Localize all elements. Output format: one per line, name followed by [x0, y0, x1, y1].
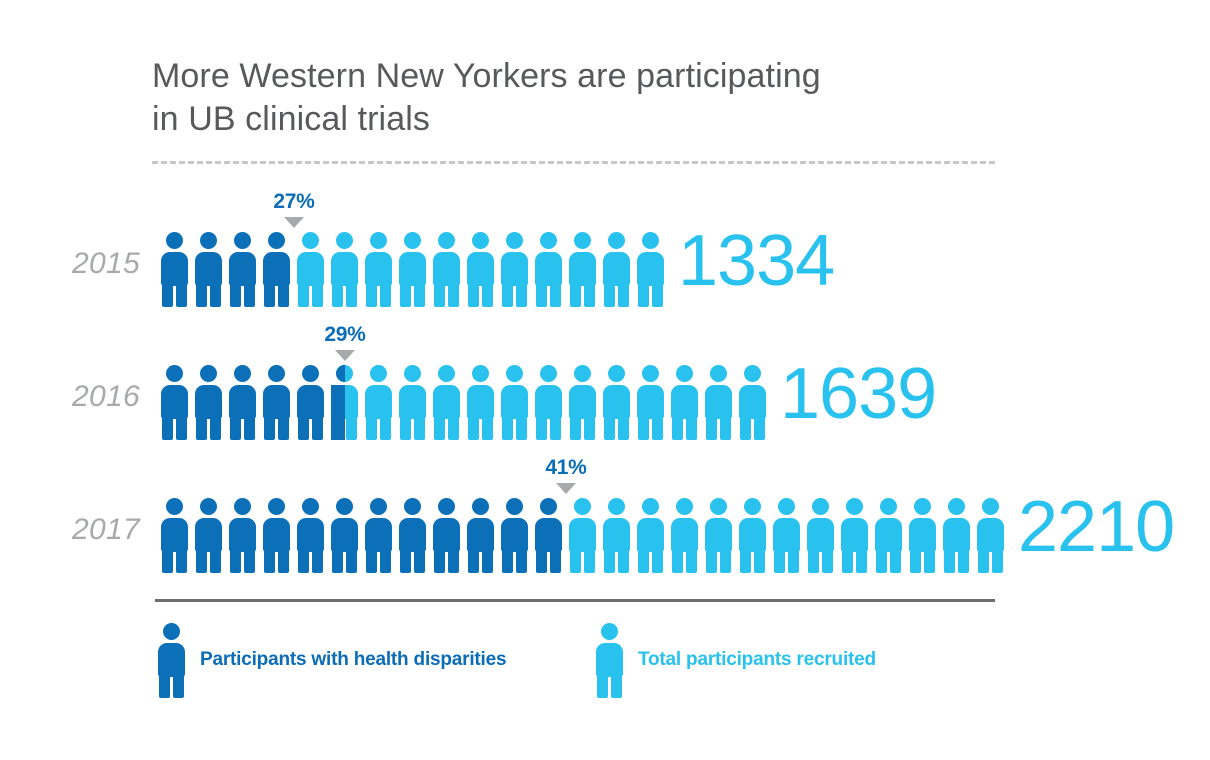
- person-icon: [158, 498, 192, 573]
- person-body-icon: [535, 385, 562, 440]
- title-divider-dashed: [152, 161, 995, 164]
- person-head-icon: [710, 365, 727, 382]
- triangle-down-icon: [335, 350, 355, 361]
- person-body-icon: [739, 385, 766, 440]
- person-icon: [430, 232, 464, 307]
- person-body-icon: [943, 518, 970, 573]
- person-icon: [464, 232, 498, 307]
- person-head-icon: [370, 232, 387, 249]
- person-head-icon: [234, 232, 251, 249]
- person-head-icon: [540, 232, 557, 249]
- person-head-icon: [438, 498, 455, 515]
- person-head-icon: [744, 498, 761, 515]
- person-icon: [906, 498, 940, 573]
- person-head-icon: [574, 232, 591, 249]
- total-value-2015: 1334: [678, 225, 834, 297]
- person-icon: [362, 232, 396, 307]
- person-head-icon: [438, 232, 455, 249]
- pictogram-row-2017: 201741%2210: [0, 456, 1210, 576]
- legend-label: Participants with health disparities: [200, 649, 506, 671]
- person-body-icon: [807, 518, 834, 573]
- figure-strip-2015: [158, 232, 668, 307]
- person-head-icon: [268, 365, 285, 382]
- person-body-icon: [603, 252, 630, 307]
- person-icon: [158, 365, 192, 440]
- year-label-2015: 2015: [0, 247, 140, 281]
- person-icon: [702, 365, 736, 440]
- person-body-icon: [637, 385, 664, 440]
- person-icon: [804, 498, 838, 573]
- person-icon: [634, 365, 668, 440]
- person-icon: [668, 498, 702, 573]
- person-body-icon: [569, 385, 596, 440]
- person-body-icon: [365, 252, 392, 307]
- person-icon: [294, 498, 328, 573]
- person-body-icon: [501, 385, 528, 440]
- person-head-icon: [336, 365, 353, 382]
- person-icon: [702, 498, 736, 573]
- page-title: More Western New Yorkers are participati…: [152, 55, 1022, 141]
- person-head-icon: [676, 498, 693, 515]
- person-body-icon: [297, 518, 324, 573]
- person-body-icon: [263, 252, 290, 307]
- person-head-icon: [574, 365, 591, 382]
- person-body-icon: [297, 385, 324, 440]
- percent-value-2016: 29%: [300, 323, 390, 347]
- person-icon: [498, 498, 532, 573]
- triangle-down-icon: [556, 483, 576, 494]
- person-head-icon: [948, 498, 965, 515]
- person-icon: [532, 365, 566, 440]
- person-body-icon: [331, 518, 358, 573]
- person-head-icon: [608, 232, 625, 249]
- person-head-icon: [302, 365, 319, 382]
- person-head-icon: [914, 498, 931, 515]
- person-body-icon: [841, 518, 868, 573]
- person-icon: [566, 232, 600, 307]
- person-icon: [260, 232, 294, 307]
- person-body-icon: [433, 252, 460, 307]
- legend-person-icon: [155, 623, 189, 698]
- legend-item-health-disparities: Participants with health disparities: [155, 620, 506, 700]
- person-icon: [498, 232, 532, 307]
- person-body-icon: [535, 252, 562, 307]
- person-icon: [362, 498, 396, 573]
- person-body-icon: [297, 252, 324, 307]
- person-body-icon: [603, 385, 630, 440]
- person-icon: [634, 232, 668, 307]
- person-head-icon: [268, 498, 285, 515]
- person-head-icon: [302, 232, 319, 249]
- person-head-icon: [608, 498, 625, 515]
- person-icon: [634, 498, 668, 573]
- person-icon: [396, 498, 430, 573]
- pictogram-row-2016: 201629%1639: [0, 323, 1210, 443]
- person-head-icon: [166, 232, 183, 249]
- person-body-icon: [158, 643, 185, 698]
- person-body-icon: [705, 385, 732, 440]
- person-body-icon: [331, 385, 358, 440]
- triangle-down-icon: [284, 217, 304, 228]
- person-icon: [566, 498, 600, 573]
- person-head-icon: [506, 365, 523, 382]
- person-icon: [328, 365, 362, 440]
- person-body-icon: [569, 252, 596, 307]
- person-head-icon: [200, 498, 217, 515]
- person-icon: [362, 365, 396, 440]
- person-head-icon: [710, 498, 727, 515]
- person-icon: [294, 232, 328, 307]
- person-head-icon: [642, 232, 659, 249]
- person-head-icon: [234, 498, 251, 515]
- person-head-icon: [268, 232, 285, 249]
- person-icon: [260, 498, 294, 573]
- person-icon: [226, 498, 260, 573]
- person-head-icon: [812, 498, 829, 515]
- person-head-icon: [846, 498, 863, 515]
- person-body-icon: [399, 385, 426, 440]
- figure-strip-2017: [158, 498, 1008, 573]
- total-value-2016: 1639: [780, 358, 936, 430]
- person-head-icon: [676, 365, 693, 382]
- person-icon: [736, 365, 770, 440]
- person-icon: [498, 365, 532, 440]
- person-head-icon: [601, 623, 618, 640]
- person-icon: [328, 498, 362, 573]
- person-head-icon: [234, 365, 251, 382]
- person-body-icon: [535, 518, 562, 573]
- year-label-2017: 2017: [0, 513, 140, 547]
- person-body-icon: [977, 518, 1004, 573]
- person-head-icon: [778, 498, 795, 515]
- person-body-icon: [263, 385, 290, 440]
- person-icon: [192, 498, 226, 573]
- person-icon: [226, 365, 260, 440]
- person-body-icon: [195, 518, 222, 573]
- person-icon: [430, 498, 464, 573]
- person-icon: [294, 365, 328, 440]
- person-body-icon: [229, 252, 256, 307]
- person-icon: [940, 498, 974, 573]
- person-head-icon: [200, 365, 217, 382]
- person-body-icon: [229, 518, 256, 573]
- person-body-icon: [433, 518, 460, 573]
- person-icon: [430, 365, 464, 440]
- person-body-icon: [195, 252, 222, 307]
- infographic-canvas: More Western New Yorkers are participati…: [0, 0, 1210, 760]
- person-head-icon: [506, 232, 523, 249]
- title-line-2: in UB clinical trials: [152, 98, 1022, 141]
- person-head-icon: [880, 498, 897, 515]
- percent-callout-2016: 29%: [300, 323, 390, 361]
- person-head-icon: [166, 365, 183, 382]
- person-head-icon: [506, 498, 523, 515]
- percent-value-2015: 27%: [249, 190, 339, 214]
- person-icon: [736, 498, 770, 573]
- legend-person-icon: [593, 623, 627, 698]
- title-line-1: More Western New Yorkers are participati…: [152, 55, 1022, 98]
- person-body-icon: [637, 518, 664, 573]
- person-body-icon: [229, 385, 256, 440]
- total-value-2017: 2210: [1018, 491, 1174, 563]
- person-body-icon: [637, 252, 664, 307]
- person-body-icon: [365, 518, 392, 573]
- pictogram-row-2015: 201527%1334: [0, 190, 1210, 310]
- person-head-icon: [642, 365, 659, 382]
- person-head-icon: [200, 232, 217, 249]
- person-body-icon: [161, 385, 188, 440]
- person-head-icon: [472, 232, 489, 249]
- person-icon: [192, 365, 226, 440]
- person-body-icon: [467, 385, 494, 440]
- person-icon: [566, 365, 600, 440]
- person-icon: [226, 232, 260, 307]
- person-icon: [464, 365, 498, 440]
- person-body-icon: [331, 252, 358, 307]
- legend-item-total-recruited: Total participants recruited: [593, 620, 876, 700]
- person-icon: [872, 498, 906, 573]
- person-body-icon: [909, 518, 936, 573]
- person-icon: [974, 498, 1008, 573]
- person-body-icon: [467, 252, 494, 307]
- person-head-icon: [438, 365, 455, 382]
- person-body-icon: [399, 518, 426, 573]
- person-body-icon: [501, 518, 528, 573]
- person-head-icon: [404, 232, 421, 249]
- person-body-icon: [705, 518, 732, 573]
- person-head-icon: [370, 365, 387, 382]
- person-body-icon: [596, 643, 623, 698]
- person-body-icon: [603, 518, 630, 573]
- person-head-icon: [404, 498, 421, 515]
- person-head-icon: [370, 498, 387, 515]
- legend-label: Total participants recruited: [638, 649, 876, 671]
- person-head-icon: [163, 623, 180, 640]
- person-icon: [600, 232, 634, 307]
- person-body-icon: [161, 518, 188, 573]
- person-icon: [158, 232, 192, 307]
- person-body-icon: [501, 252, 528, 307]
- person-icon: [192, 232, 226, 307]
- person-body-icon: [875, 518, 902, 573]
- person-icon: [600, 498, 634, 573]
- person-head-icon: [166, 498, 183, 515]
- person-body-icon: [433, 385, 460, 440]
- person-icon: [396, 365, 430, 440]
- person-icon: [770, 498, 804, 573]
- person-icon: [600, 365, 634, 440]
- person-head-icon: [982, 498, 999, 515]
- person-head-icon: [642, 498, 659, 515]
- percent-callout-2017: 41%: [521, 456, 611, 494]
- legend-divider: [155, 599, 995, 602]
- person-body-icon: [161, 252, 188, 307]
- person-icon: [328, 232, 362, 307]
- person-icon: [532, 232, 566, 307]
- person-body-icon: [365, 385, 392, 440]
- person-head-icon: [336, 498, 353, 515]
- person-body-icon: [569, 518, 596, 573]
- person-icon: [260, 365, 294, 440]
- person-body-icon: [739, 518, 766, 573]
- person-icon: [396, 232, 430, 307]
- percent-value-2017: 41%: [521, 456, 611, 480]
- person-head-icon: [302, 498, 319, 515]
- person-head-icon: [744, 365, 761, 382]
- person-head-icon: [540, 498, 557, 515]
- person-head-icon: [540, 365, 557, 382]
- person-head-icon: [404, 365, 421, 382]
- percent-callout-2015: 27%: [249, 190, 339, 228]
- person-icon: [464, 498, 498, 573]
- figure-strip-2016: [158, 365, 770, 440]
- person-head-icon: [472, 365, 489, 382]
- person-body-icon: [773, 518, 800, 573]
- person-icon: [532, 498, 566, 573]
- person-head-icon: [574, 498, 591, 515]
- person-icon: [668, 365, 702, 440]
- person-head-icon: [608, 365, 625, 382]
- person-body-icon: [195, 385, 222, 440]
- person-icon: [838, 498, 872, 573]
- person-head-icon: [336, 232, 353, 249]
- person-body-icon: [399, 252, 426, 307]
- person-body-icon: [263, 518, 290, 573]
- person-body-icon: [671, 385, 698, 440]
- person-body-icon: [467, 518, 494, 573]
- person-head-icon: [472, 498, 489, 515]
- person-body-icon: [671, 518, 698, 573]
- year-label-2016: 2016: [0, 380, 140, 414]
